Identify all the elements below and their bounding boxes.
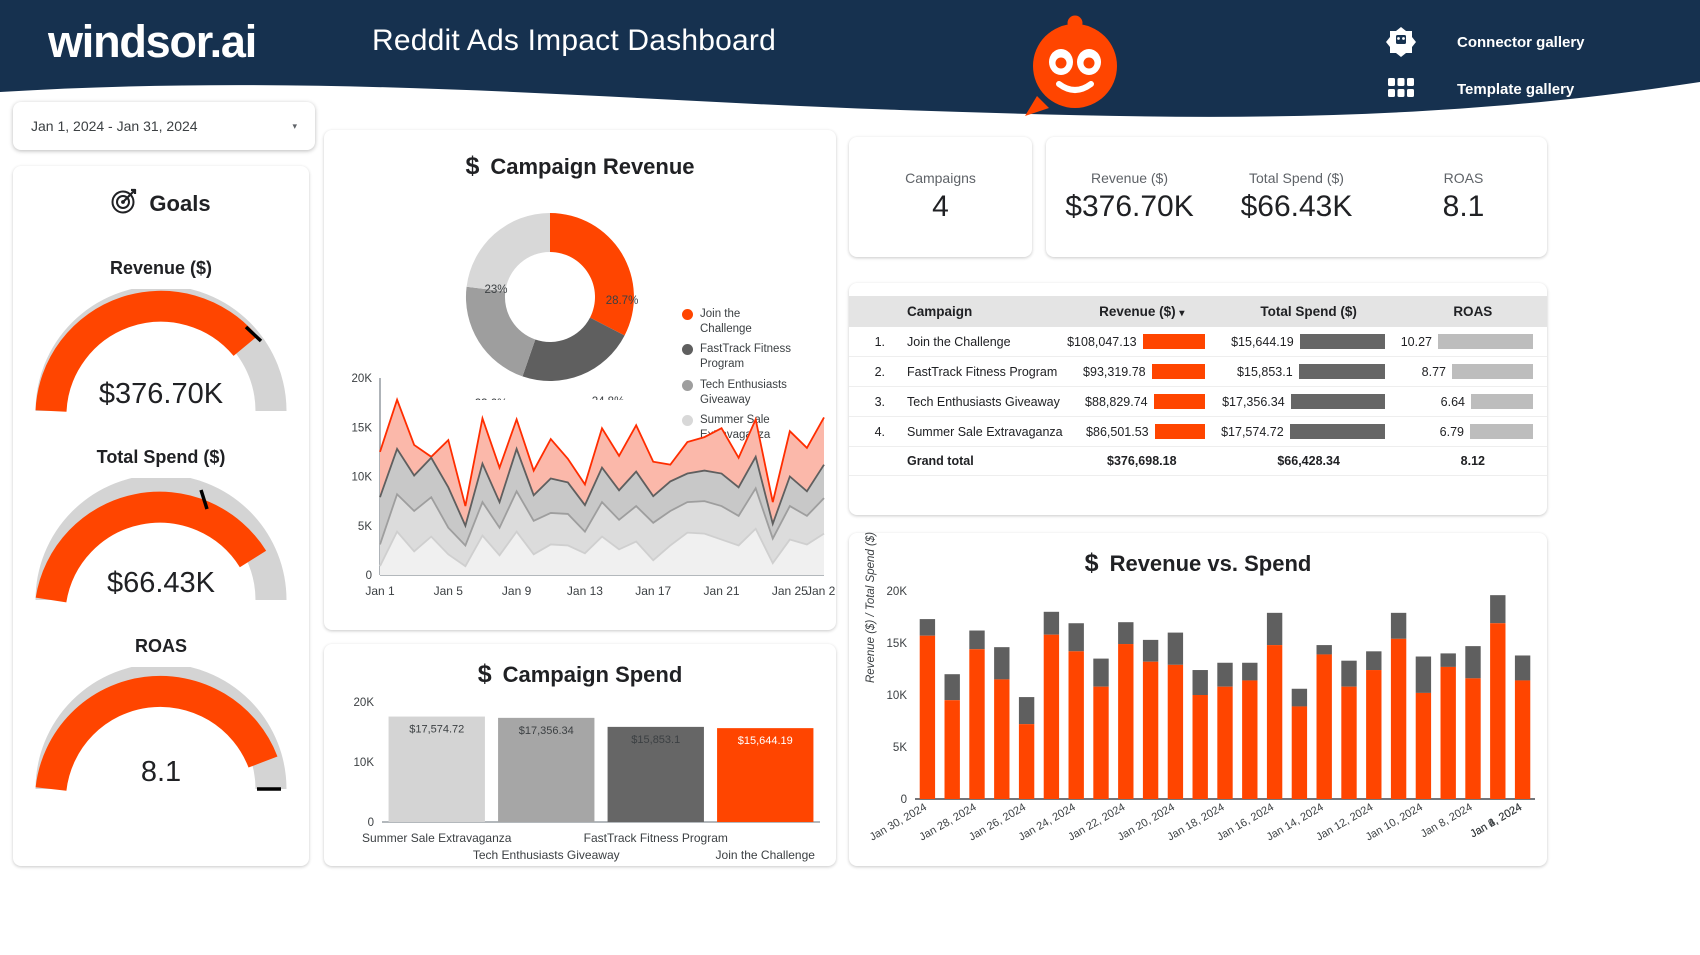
bar-segment-spend[interactable] xyxy=(1465,646,1480,678)
legend-swatch-icon xyxy=(682,344,693,355)
bar-segment-spend[interactable] xyxy=(1019,697,1034,724)
gauge-total-spend-arc: $66.43K xyxy=(35,478,287,604)
x-axis-tick: Jan 21 xyxy=(704,584,740,598)
bar-segment-spend[interactable] xyxy=(1317,645,1332,654)
bar-data-label: $17,574.72 xyxy=(409,724,464,736)
campaign-revenue-title-text: Campaign Revenue xyxy=(490,154,694,180)
row-metric: $108,047.13 xyxy=(1065,327,1219,357)
y-axis-tick: 5K xyxy=(358,521,372,533)
grand-total-value: $376,698.18 xyxy=(1065,447,1219,476)
page-title: Reddit Ads Impact Dashboard xyxy=(372,24,776,58)
legend-item[interactable]: Join the Challenge xyxy=(682,307,795,336)
scorecard-metrics: Revenue ($) $376.70K Total Spend ($) $66… xyxy=(1046,137,1547,257)
gauge-roas-value: 8.1 xyxy=(35,756,287,789)
y-axis-tick: 15K xyxy=(352,422,373,434)
bar-segment-spend[interactable] xyxy=(1217,663,1232,687)
bar-segment-spend[interactable] xyxy=(1069,623,1084,651)
y-axis-tick: 5K xyxy=(893,742,907,754)
x-axis-tick: Jan 9 xyxy=(502,584,532,598)
bar-segment-spend[interactable] xyxy=(1168,633,1183,665)
metric-bar xyxy=(1438,334,1533,349)
table-row[interactable]: 2.FastTrack Fitness Program$93,319.78$15… xyxy=(849,357,1547,387)
legend-label: FastTrack Fitness Program xyxy=(700,342,795,371)
scorecard-spend: Total Spend ($) $66.43K xyxy=(1213,137,1380,257)
revenue-vs-spend-title: $ Revenue vs. Spend xyxy=(849,549,1547,578)
grid-icon xyxy=(1385,73,1417,105)
revenue-vs-spend-card: $ Revenue vs. Spend Revenue ($) / Total … xyxy=(849,533,1547,866)
campaign-table-card: Campaign Revenue ($) ▾ Total Spend ($) R… xyxy=(849,283,1547,515)
y-axis-tick: 0 xyxy=(901,794,907,806)
bar-segment-revenue[interactable] xyxy=(1267,645,1282,799)
scorecard-campaigns-value: 4 xyxy=(932,190,949,224)
metric-bar xyxy=(1290,424,1385,439)
metric-bar xyxy=(1471,394,1533,409)
bar-segment-revenue[interactable] xyxy=(1093,687,1108,799)
metric-value: $17,356.34 xyxy=(1222,395,1285,409)
x-axis-tick: Jan 10, 2024 xyxy=(1364,801,1425,843)
gauge-total-spend: Total Spend ($) $66.43K xyxy=(13,447,309,604)
table-row[interactable]: 1.Join the Challenge$108,047.13$15,644.1… xyxy=(849,327,1547,357)
metric-bar xyxy=(1470,424,1533,439)
campaign-spend-title-text: Campaign Spend xyxy=(503,662,683,688)
bar-segment-revenue[interactable] xyxy=(945,700,960,799)
bar-segment-revenue[interactable] xyxy=(1242,680,1257,799)
bar-data-label: $15,853.1 xyxy=(631,734,680,746)
row-campaign: Summer Sale Extravaganza xyxy=(895,417,1065,447)
y-axis-tick: 20K xyxy=(352,373,373,385)
gauge-total-spend-label: Total Spend ($) xyxy=(13,447,309,468)
bar-segment-spend[interactable] xyxy=(1267,613,1282,645)
metric-bar xyxy=(1155,424,1205,439)
x-axis-tick: Jan 1 xyxy=(365,584,395,598)
x-axis-tick: Tech Enthusiasts Giveaway xyxy=(473,848,620,862)
y-axis-tick: 20K xyxy=(887,586,908,598)
metric-value: $108,047.13 xyxy=(1067,335,1137,349)
metric-bar xyxy=(1299,364,1385,379)
bar-segment-revenue[interactable] xyxy=(1391,639,1406,799)
y-axis-tick: 10K xyxy=(352,472,373,484)
table-header-revenue-label: Revenue ($) xyxy=(1099,304,1176,319)
bar-segment-spend[interactable] xyxy=(1118,622,1133,644)
goals-heading: Goals xyxy=(13,188,309,220)
goals-title: Goals xyxy=(149,191,210,217)
dollar-icon: $ xyxy=(465,152,479,181)
scorecard-roas-label: ROAS xyxy=(1444,170,1484,186)
row-metric: $93,319.78 xyxy=(1065,357,1219,387)
row-metric: 8.77 xyxy=(1399,357,1547,387)
table-row[interactable]: 3.Tech Enthusiasts Giveaway$88,829.74$17… xyxy=(849,387,1547,417)
connector-icon xyxy=(1385,26,1417,58)
revenue-timeseries-area: 05K10K15K20KJan 1Jan 5Jan 9Jan 13Jan 17J… xyxy=(324,370,836,620)
bar-segment-revenue[interactable] xyxy=(1490,623,1505,799)
row-metric: $86,501.53 xyxy=(1065,417,1219,447)
bar-segment-revenue[interactable] xyxy=(1044,635,1059,799)
metric-bar xyxy=(1300,334,1385,349)
metric-value: 6.79 xyxy=(1440,425,1464,439)
metric-value: $17,574.72 xyxy=(1221,425,1284,439)
bar-segment-spend[interactable] xyxy=(1366,651,1381,670)
row-metric: $88,829.74 xyxy=(1065,387,1219,417)
bar-segment-spend[interactable] xyxy=(1490,595,1505,623)
legend-label: Join the Challenge xyxy=(700,307,795,336)
bar-segment-revenue[interactable] xyxy=(1515,680,1530,799)
scorecard-spend-value: $66.43K xyxy=(1241,190,1353,224)
bar-segment-revenue[interactable] xyxy=(1465,678,1480,799)
table-header-row: Campaign Revenue ($) ▾ Total Spend ($) R… xyxy=(849,296,1547,327)
metric-value: $15,644.19 xyxy=(1231,335,1294,349)
bar-segment-revenue[interactable] xyxy=(1118,644,1133,799)
bar-segment-spend[interactable] xyxy=(920,619,935,636)
table-header-roas[interactable]: ROAS xyxy=(1399,296,1547,327)
connector-gallery-link[interactable]: Connector gallery xyxy=(1385,26,1585,58)
gauge-revenue-value: $376.70K xyxy=(35,378,287,411)
row-metric: $17,356.34 xyxy=(1219,387,1399,417)
bar-segment-revenue[interactable] xyxy=(969,649,984,799)
scorecard-revenue: Revenue ($) $376.70K xyxy=(1046,137,1213,257)
metric-value: 6.64 xyxy=(1441,395,1465,409)
metric-value: $93,319.78 xyxy=(1083,365,1146,379)
metric-value: $86,501.53 xyxy=(1086,425,1149,439)
legend-item[interactable]: FastTrack Fitness Program xyxy=(682,342,795,371)
row-metric: $15,644.19 xyxy=(1219,327,1399,357)
table-header-revenue[interactable]: Revenue ($) ▾ xyxy=(1065,296,1219,327)
bar-segment-revenue[interactable] xyxy=(1143,662,1158,799)
x-axis-tick: Jan 17 xyxy=(635,584,671,598)
x-axis-tick: Jan 5 xyxy=(434,584,464,598)
donut-label-0: 28.7% xyxy=(606,295,639,307)
bar-segment-revenue[interactable] xyxy=(1441,667,1456,799)
date-range-picker[interactable]: Jan 1, 2024 - Jan 31, 2024 ▾ xyxy=(13,102,315,150)
campaign-spend-bars: 010K20K$17,574.72$17,356.34$15,853.1$15,… xyxy=(324,696,836,866)
metric-value: $15,853.1 xyxy=(1237,365,1293,379)
bar-segment-revenue[interactable] xyxy=(1069,651,1084,799)
metric-value: 8.77 xyxy=(1422,365,1446,379)
table-header-spend[interactable]: Total Spend ($) xyxy=(1219,296,1399,327)
table-header-campaign[interactable]: Campaign xyxy=(895,296,1065,327)
grand-total-value xyxy=(849,447,895,476)
y-axis-tick: 0 xyxy=(366,570,372,582)
scorecard-spend-label: Total Spend ($) xyxy=(1249,170,1344,186)
metric-value: 10.27 xyxy=(1401,335,1432,349)
campaign-table: Campaign Revenue ($) ▾ Total Spend ($) R… xyxy=(849,296,1547,476)
bar-segment-spend[interactable] xyxy=(1193,670,1208,695)
table-row[interactable]: 4.Summer Sale Extravaganza$86,501.53$17,… xyxy=(849,417,1547,447)
gauge-roas-label: ROAS xyxy=(13,636,309,657)
row-index: 3. xyxy=(849,387,895,417)
metric-value: $88,829.74 xyxy=(1085,395,1148,409)
x-axis-tick: Jan 29 xyxy=(806,584,836,598)
bar-segment-spend[interactable] xyxy=(1093,659,1108,687)
bar-segment-spend[interactable] xyxy=(1416,657,1431,693)
revenue-vs-spend-title-text: Revenue vs. Spend xyxy=(1110,551,1312,577)
bar-segment-revenue[interactable] xyxy=(1193,695,1208,799)
bar-segment-spend[interactable] xyxy=(1044,612,1059,635)
bar-segment-revenue[interactable] xyxy=(1019,724,1034,799)
metric-bar xyxy=(1452,364,1533,379)
x-axis-tick: Join the Challenge xyxy=(716,848,816,862)
bar-segment-spend[interactable] xyxy=(1515,655,1530,680)
gauge-roas: ROAS 8.1 xyxy=(13,636,309,793)
sort-caret-icon: ▾ xyxy=(1179,308,1184,319)
x-axis-tick: Jan 25 xyxy=(772,584,808,598)
campaign-spend-title: $ Campaign Spend xyxy=(324,660,836,689)
x-axis-tick: Jan 13 xyxy=(567,584,603,598)
connector-gallery-label: Connector gallery xyxy=(1457,34,1585,51)
x-axis-tick: Jan 8, 2024 xyxy=(1419,801,1475,840)
bar-segment-revenue[interactable] xyxy=(994,679,1009,799)
metric-bar xyxy=(1143,334,1205,349)
gauge-roas-arc: 8.1 xyxy=(35,667,287,793)
grand-total-label: Grand total xyxy=(895,447,1065,476)
bar-segment-spend[interactable] xyxy=(1143,640,1158,662)
x-axis-tick: Jan 2, 2024 xyxy=(1468,801,1524,840)
bar-segment-spend[interactable] xyxy=(1242,663,1257,681)
bar-segment-spend[interactable] xyxy=(969,631,984,650)
svg-text:Jan 10, 2024: Jan 10, 2024 xyxy=(1364,801,1425,843)
revenue-vs-spend-bars: 05K10K15K20KJan 30, 2024Jan 28, 2024Jan … xyxy=(849,581,1547,866)
gauge-revenue: Revenue ($) $376.70K xyxy=(13,258,309,415)
metric-bar xyxy=(1154,394,1205,409)
svg-text:Jan 8, 2024: Jan 8, 2024 xyxy=(1419,801,1475,840)
bar-segment-revenue[interactable] xyxy=(1217,687,1232,799)
bar-segment-spend[interactable] xyxy=(1341,661,1356,687)
gauge-revenue-arc: $376.70K xyxy=(35,289,287,415)
campaign-revenue-card: $ Campaign Revenue 28.7% 24.8% 23.6% 23% xyxy=(324,130,836,630)
y-axis-tick: 10K xyxy=(354,757,375,769)
legend-swatch-icon xyxy=(682,309,693,320)
y-axis-tick: 20K xyxy=(354,697,375,709)
row-metric: 6.64 xyxy=(1399,387,1547,417)
y-axis-tick: 10K xyxy=(887,690,908,702)
scorecard-roas: ROAS 8.1 xyxy=(1380,137,1547,257)
dollar-icon: $ xyxy=(478,660,492,689)
grand-total-value: $66,428.34 xyxy=(1219,447,1399,476)
dollar-icon: $ xyxy=(1085,549,1099,578)
bar-segment-spend[interactable] xyxy=(1441,653,1456,667)
template-gallery-link[interactable]: Template gallery xyxy=(1385,73,1574,105)
bar-segment-spend[interactable] xyxy=(945,674,960,700)
bar-segment-revenue[interactable] xyxy=(1416,693,1431,799)
grand-total-row: Grand total$376,698.18$66,428.348.12 xyxy=(849,447,1547,476)
bar-segment-revenue[interactable] xyxy=(1366,670,1381,799)
chevron-down-icon: ▾ xyxy=(292,121,297,132)
row-index: 2. xyxy=(849,357,895,387)
row-metric: $15,853.1 xyxy=(1219,357,1399,387)
bar-segment-revenue[interactable] xyxy=(920,636,935,799)
row-campaign: Join the Challenge xyxy=(895,327,1065,357)
bar-segment-revenue[interactable] xyxy=(1341,687,1356,799)
windsor-logo: windsor.ai xyxy=(48,16,256,68)
bar-segment-spend[interactable] xyxy=(1292,689,1307,707)
table-header-index xyxy=(849,296,895,327)
bar-segment-revenue[interactable] xyxy=(1168,665,1183,799)
row-metric: 10.27 xyxy=(1399,327,1547,357)
template-gallery-label: Template gallery xyxy=(1457,81,1574,98)
bar-segment-spend[interactable] xyxy=(1391,613,1406,639)
scorecard-campaigns-label: Campaigns xyxy=(905,170,976,186)
y-axis-tick: 0 xyxy=(368,817,374,829)
donut-label-3: 23% xyxy=(484,284,507,296)
grand-total-value: 8.12 xyxy=(1399,447,1547,476)
row-metric: 6.79 xyxy=(1399,417,1547,447)
date-range-value: Jan 1, 2024 - Jan 31, 2024 xyxy=(31,118,198,134)
scorecard-revenue-value: $376.70K xyxy=(1065,190,1193,224)
row-campaign: Tech Enthusiasts Giveaway xyxy=(895,387,1065,417)
row-metric: $17,574.72 xyxy=(1219,417,1399,447)
svg-text:Jan 2, 2024: Jan 2, 2024 xyxy=(1468,801,1524,840)
campaign-spend-card: $ Campaign Spend 010K20K$17,574.72$17,35… xyxy=(324,644,836,866)
scorecard-campaigns: Campaigns 4 xyxy=(849,137,1032,257)
y-axis-tick: 15K xyxy=(887,638,908,650)
bar-segment-revenue[interactable] xyxy=(1292,706,1307,799)
row-index: 1. xyxy=(849,327,895,357)
reddit-logo-icon xyxy=(1015,4,1133,122)
target-icon xyxy=(111,188,137,220)
row-campaign: FastTrack Fitness Program xyxy=(895,357,1065,387)
campaign-revenue-donut: 28.7% 24.8% 23.6% 23% Join the Challenge… xyxy=(324,185,836,395)
bar-segment-revenue[interactable] xyxy=(1317,654,1332,799)
gauge-revenue-label: Revenue ($) xyxy=(13,258,309,279)
bar-data-label: $17,356.34 xyxy=(519,725,574,737)
x-axis-tick: Summer Sale Extravaganza xyxy=(362,831,512,845)
scorecard-roas-value: 8.1 xyxy=(1443,190,1485,224)
bar-data-label: $15,644.19 xyxy=(738,735,793,747)
metric-bar xyxy=(1291,394,1385,409)
campaign-revenue-title: $ Campaign Revenue xyxy=(324,152,836,181)
metric-bar xyxy=(1152,364,1205,379)
goals-panel: Goals Revenue ($) $376.70K Total Spend (… xyxy=(13,166,309,866)
gauge-total-spend-value: $66.43K xyxy=(35,567,287,600)
bar-segment-spend[interactable] xyxy=(994,647,1009,679)
scorecard-revenue-label: Revenue ($) xyxy=(1091,170,1168,186)
row-index: 4. xyxy=(849,417,895,447)
x-axis-tick: FastTrack Fitness Program xyxy=(584,831,728,845)
